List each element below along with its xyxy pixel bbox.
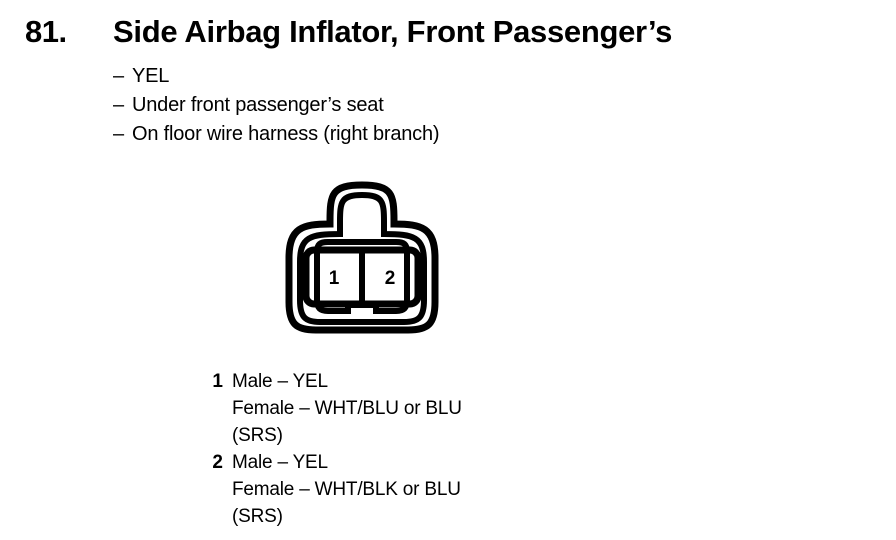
pin-number: 2 [206,449,232,476]
spec-list-item-label: YEL [132,65,169,87]
pin-entry: 1 Male – YEL Female – WHT/BLU or BLU (SR… [206,368,626,449]
pin-number: 1 [206,368,232,395]
pin-description: Male – YEL Female – WHT/BLU or BLU (SRS) [232,368,626,449]
pin-entry: 2 Male – YEL Female – WHT/BLK or BLU (SR… [206,449,626,530]
item-number: 81. [25,14,113,50]
pin-line-female: Female – WHT/BLU or BLU [232,395,626,422]
connector-diagram: 1 2 [272,174,452,342]
pin-line-system: (SRS) [232,422,626,449]
pin-line-female: Female – WHT/BLK or BLU [232,476,626,503]
pin-legend: 1 Male – YEL Female – WHT/BLU or BLU (SR… [206,368,626,530]
dash-bullet-icon: – [113,120,132,149]
page-title-text: Side Airbag Inflator, Front Passenger’s [113,14,672,50]
pin-line-system: (SRS) [232,503,626,530]
dash-bullet-icon: – [113,91,132,120]
connector-outline-icon: 1 2 [272,174,452,342]
cavity-label-2: 2 [385,268,396,289]
dash-bullet-icon: – [113,62,132,91]
spec-list-item-label: Under front passenger’s seat [132,94,384,116]
spec-list-item: –On floor wire harness (right branch) [113,120,593,149]
pin-line-male: Male – YEL [232,368,626,395]
cavity-label-1: 1 [329,268,340,289]
pin-line-male: Male – YEL [232,449,626,476]
spec-list-item: –Under front passenger’s seat [113,91,593,120]
pin-description: Male – YEL Female – WHT/BLK or BLU (SRS) [232,449,626,530]
spec-list-item: –YEL [113,62,593,91]
spec-list: –YEL –Under front passenger’s seat –On f… [113,62,593,149]
spec-list-item-label: On floor wire harness (right branch) [132,123,439,145]
page-title: 81. Side Airbag Inflator, Front Passenge… [25,14,672,50]
